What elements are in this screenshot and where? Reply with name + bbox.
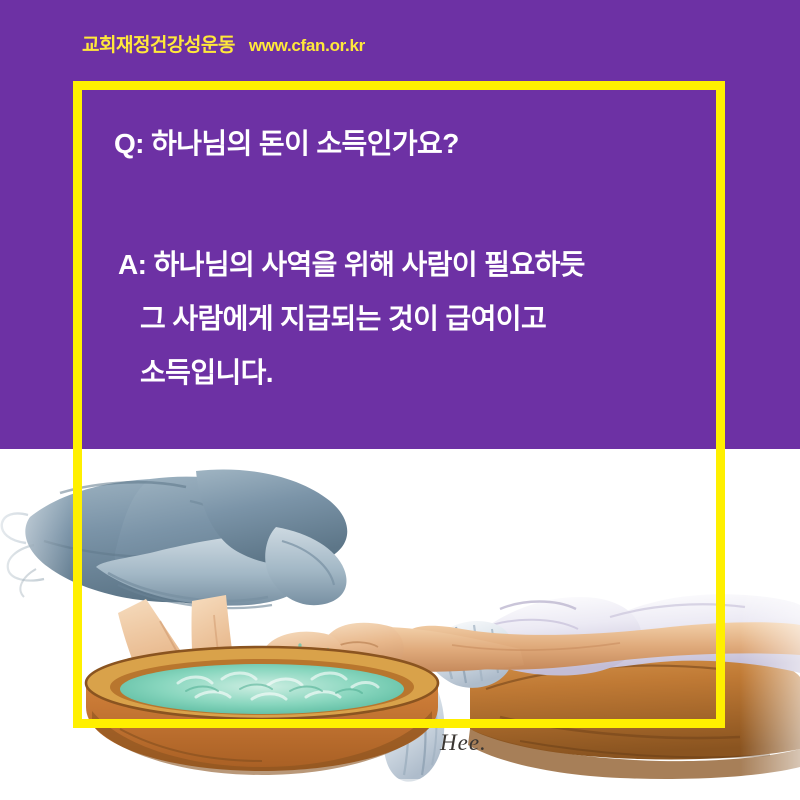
answer-line-1: A: 하나님의 사역을 위해 사람이 필요하듯 — [118, 238, 800, 292]
illustration-artwork — [0, 449, 800, 800]
answer-line-2: 그 사람에게 지급되는 것이 급여이고 — [140, 292, 800, 346]
answer-line-3: 소득입니다. — [140, 346, 800, 400]
qa-spacer — [0, 170, 800, 238]
artist-signature: Hee. — [440, 730, 487, 756]
foot-washing-illustration: Hee. — [0, 449, 800, 800]
brand-website-url[interactable]: www.cfan.or.kr — [249, 36, 365, 56]
question-line: Q: 하나님의 돈이 소득인가요? — [114, 118, 800, 170]
qa-text-block: Q: 하나님의 돈이 소득인가요? A: 하나님의 사역을 위해 사람이 필요하… — [0, 118, 800, 400]
brand-name: 교회재정건강성운동 — [82, 30, 235, 57]
brand-row: 교회재정건강성운동 www.cfan.or.kr — [82, 30, 365, 57]
infographic-card: 교회재정건강성운동 www.cfan.or.kr Q: 하나님의 돈이 소득인가… — [0, 0, 800, 800]
